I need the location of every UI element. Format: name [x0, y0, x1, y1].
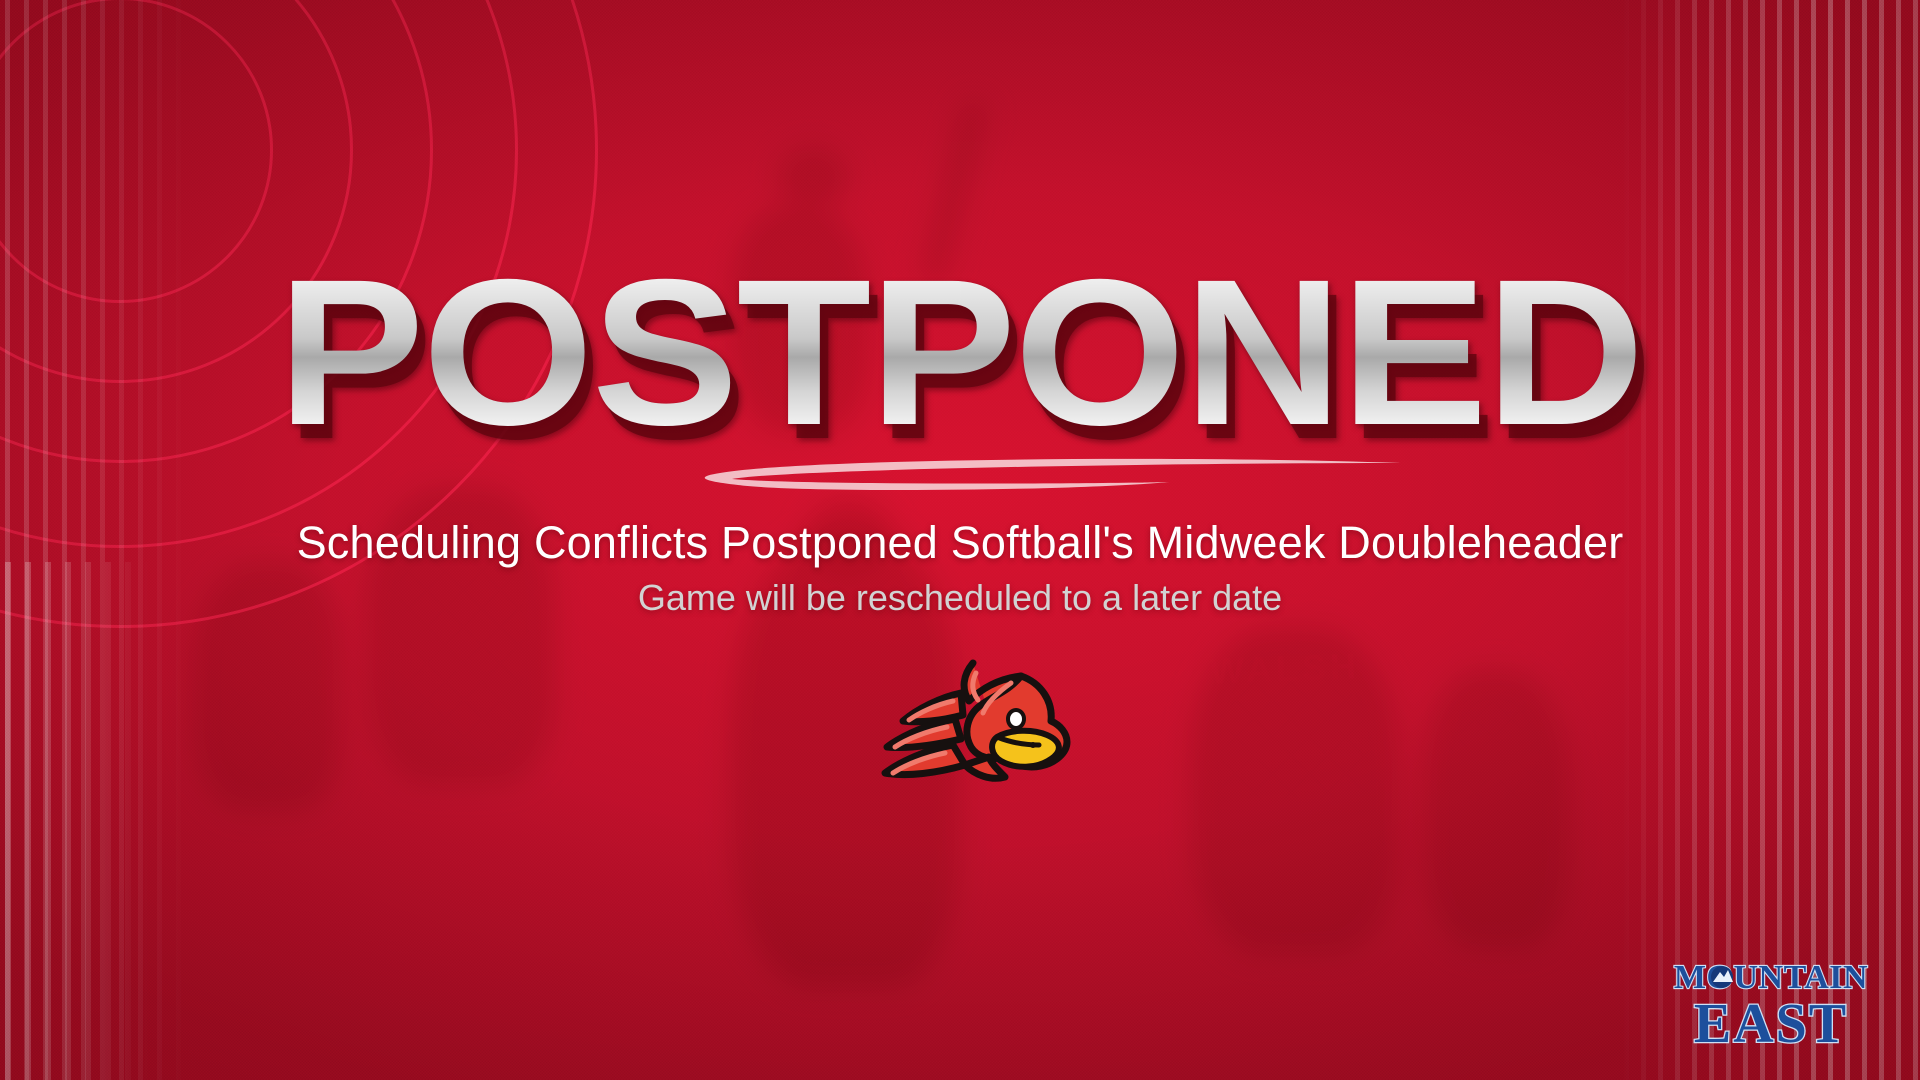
graphic-content: POSTPONED Scheduling Conflicts Postponed… [0, 0, 1920, 1080]
mountain-east-conference-logo: MOUNTAIN EAST [1666, 944, 1876, 1056]
cardinal-head-icon [845, 649, 1075, 809]
subtitle-primary: Scheduling Conflicts Postponed Softball'… [297, 517, 1624, 569]
subtitle-secondary: Game will be rescheduled to a later date [638, 577, 1282, 619]
conference-logo-line2: EAST [1694, 993, 1848, 1055]
postponed-graphic: WALSH POSTPONED Scheduling Conflicts Pos… [0, 0, 1920, 1080]
page-title: POSTPONED [277, 258, 1642, 449]
swoosh-flourish-icon [470, 451, 1450, 493]
conference-logo-line1: MOUNTAIN [1674, 959, 1868, 996]
